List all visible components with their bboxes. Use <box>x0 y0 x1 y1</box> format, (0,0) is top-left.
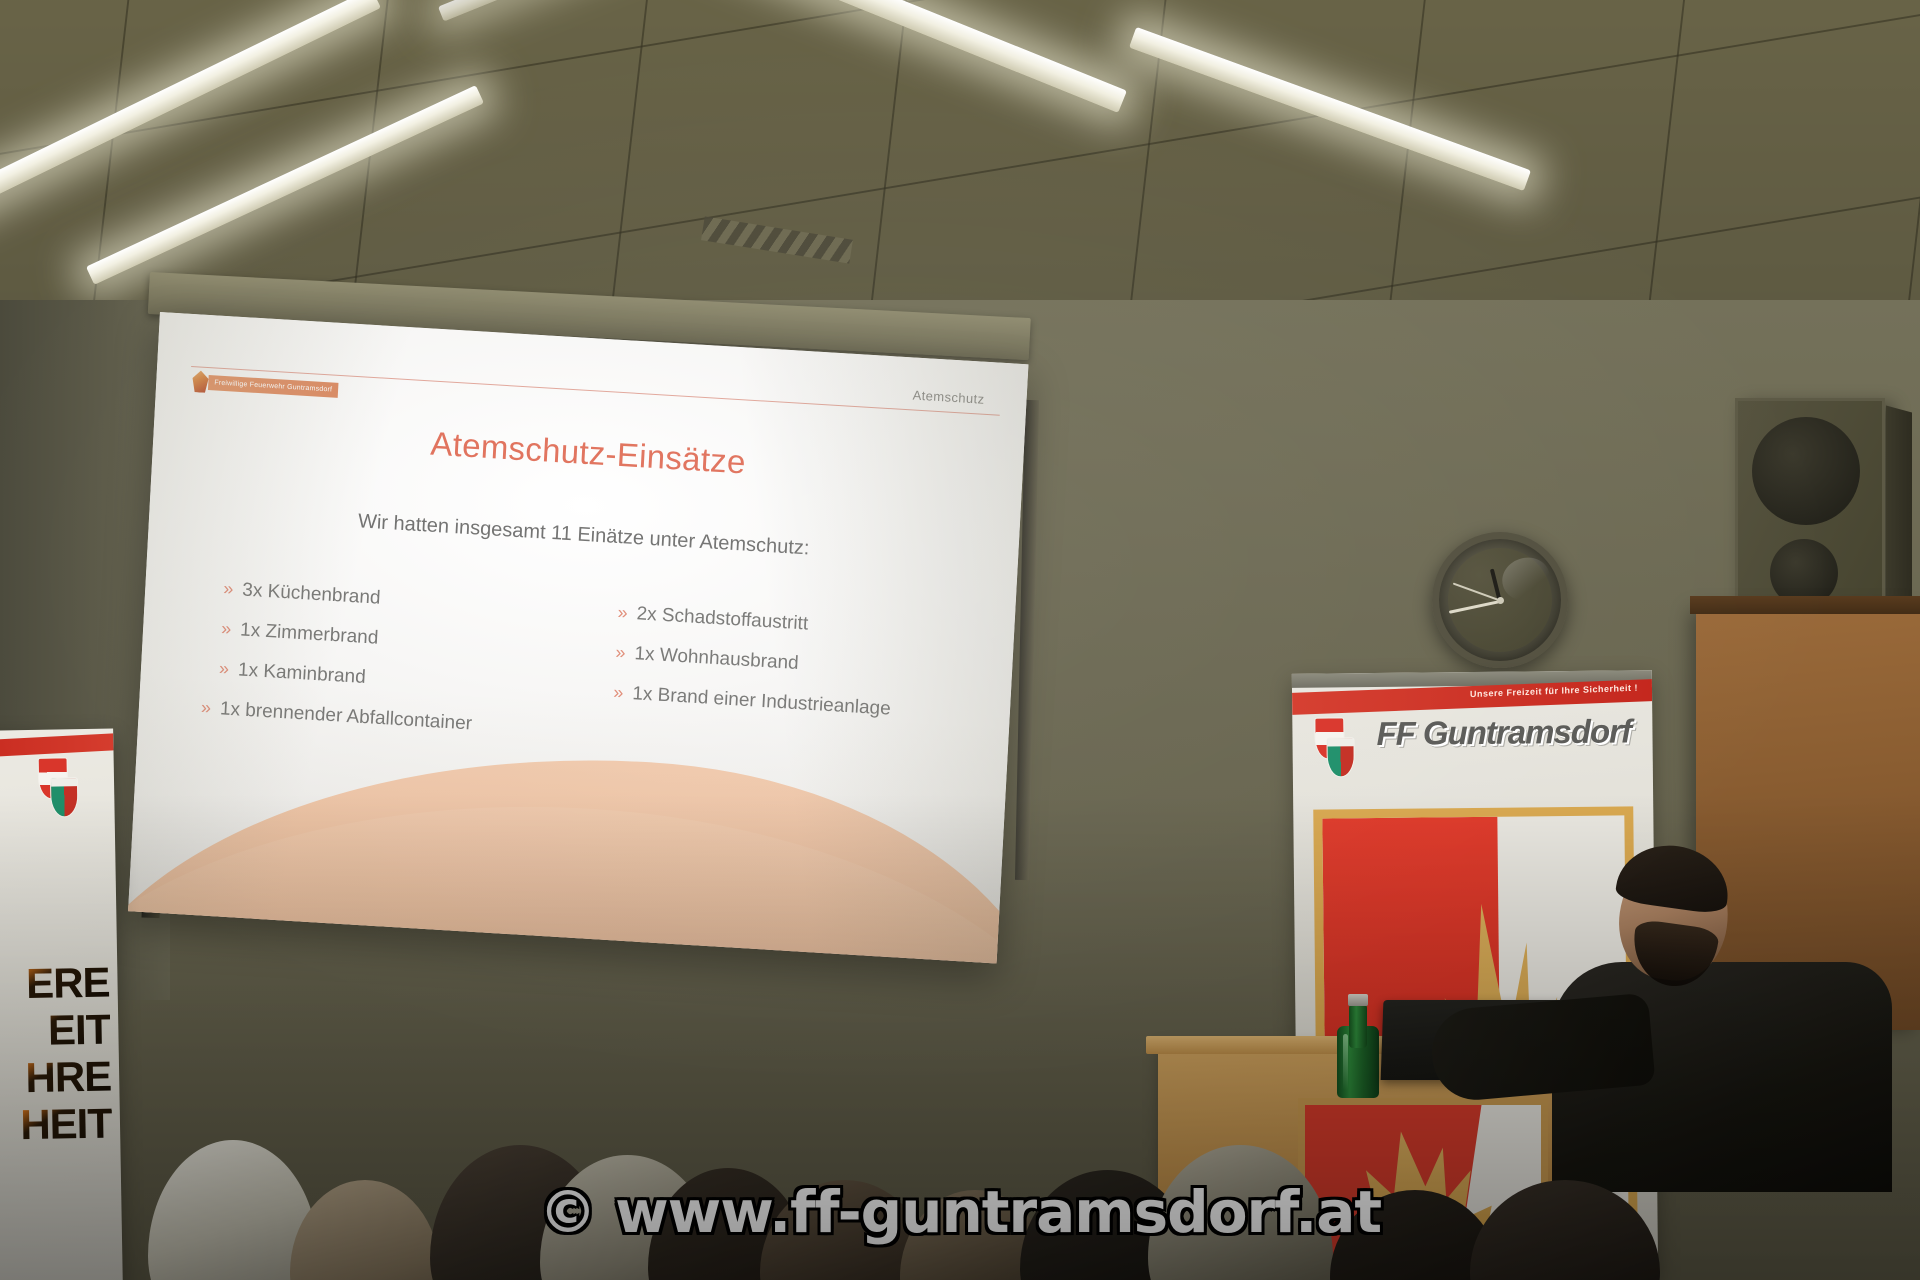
wall-clock <box>1432 532 1568 668</box>
coat-of-arms-icon <box>36 757 89 826</box>
shield-guntramsdorf-icon <box>50 777 79 817</box>
list-item-label: 1x Zimmerbrand <box>240 619 379 649</box>
clock-glass-reflection <box>1497 552 1555 606</box>
list-item-label: 1x Brand einer Industrieanlage <box>632 683 892 721</box>
list-item: » 1x Wohnhausbrand <box>615 642 973 685</box>
chevron-bullet-icon: » <box>615 642 626 664</box>
chevron-bullet-icon: » <box>200 697 211 719</box>
list-item: » 1x Kaminbrand <box>218 658 576 701</box>
banner-slogan-text: Unsere Freizeit für Ihre Sicherheit ! <box>1470 683 1638 699</box>
projection-screen: Atemschutz Freiwillige Feuerwehr Guntram… <box>128 312 1028 964</box>
slide-header-label: Atemschutz <box>912 387 985 406</box>
list-item: » 1x Zimmerbrand <box>221 618 579 661</box>
slide-title: Atemschutz-Einsätze <box>153 408 1023 498</box>
slide-bullets-right: » 2x Schadstoffaustritt » 1x Wohnhausbra… <box>588 601 975 784</box>
clock-face <box>1448 548 1552 652</box>
list-item-label: 1x Kaminbrand <box>237 659 366 689</box>
list-item-label: 1x brennender Abfallcontainer <box>219 698 472 735</box>
clock-center-pin <box>1497 597 1504 604</box>
photo-scene: Atemschutz Freiwillige Feuerwehr Guntram… <box>0 0 1920 1280</box>
list-item-label: 2x Schadstoffaustritt <box>636 603 809 635</box>
slide-bullets-left: » 3x Küchenbrand » 1x Zimmerbrand » 1x K… <box>193 577 580 760</box>
banner-title: FF Guntramsdorf <box>1376 712 1631 753</box>
slide-surface: Atemschutz Freiwillige Feuerwehr Guntram… <box>128 312 1028 964</box>
banner-left-word-line: ERE <box>0 959 110 1009</box>
slide-bullet-columns: » 3x Küchenbrand » 1x Zimmerbrand » 1x K… <box>193 577 974 783</box>
shield-guntramsdorf-icon <box>1326 737 1354 777</box>
loudspeaker-box <box>1735 398 1885 623</box>
slide-logo-text: Freiwillige Feuerwehr Guntramsdorf <box>208 375 339 398</box>
chevron-bullet-icon: » <box>223 578 234 600</box>
list-item-label: 1x Wohnhausbrand <box>634 643 799 675</box>
list-item: » 2x Schadstoffaustritt <box>617 602 975 645</box>
chevron-bullet-icon: » <box>613 682 624 704</box>
list-item: » 1x brennender Abfallcontainer <box>200 697 574 741</box>
speaker-woofer-icon <box>1752 417 1860 525</box>
site-watermark: © www.ff-guntramsdorf.at <box>0 1178 1920 1246</box>
slide-subtitle: Wir hatten insgesamt 11 Einätze unter At… <box>149 498 1019 573</box>
chevron-bullet-icon: » <box>221 618 232 640</box>
bottle-cap <box>1348 994 1368 1006</box>
cabinet-top-edge <box>1690 596 1920 614</box>
coat-of-arms-icon <box>1312 717 1365 786</box>
fire-brigade-crest-icon <box>192 370 209 393</box>
clock-minute-hand <box>1449 600 1500 614</box>
slide-logo: Freiwillige Feuerwehr Guntramsdorf <box>192 370 339 401</box>
banner-left-strip <box>0 733 113 759</box>
chevron-bullet-icon: » <box>219 658 230 680</box>
list-item-label: 3x Küchenbrand <box>242 579 381 609</box>
list-item: » 1x Brand einer Industrieanlage <box>613 682 971 725</box>
chevron-bullet-icon: » <box>617 602 628 624</box>
list-item: » 3x Küchenbrand <box>223 578 581 621</box>
